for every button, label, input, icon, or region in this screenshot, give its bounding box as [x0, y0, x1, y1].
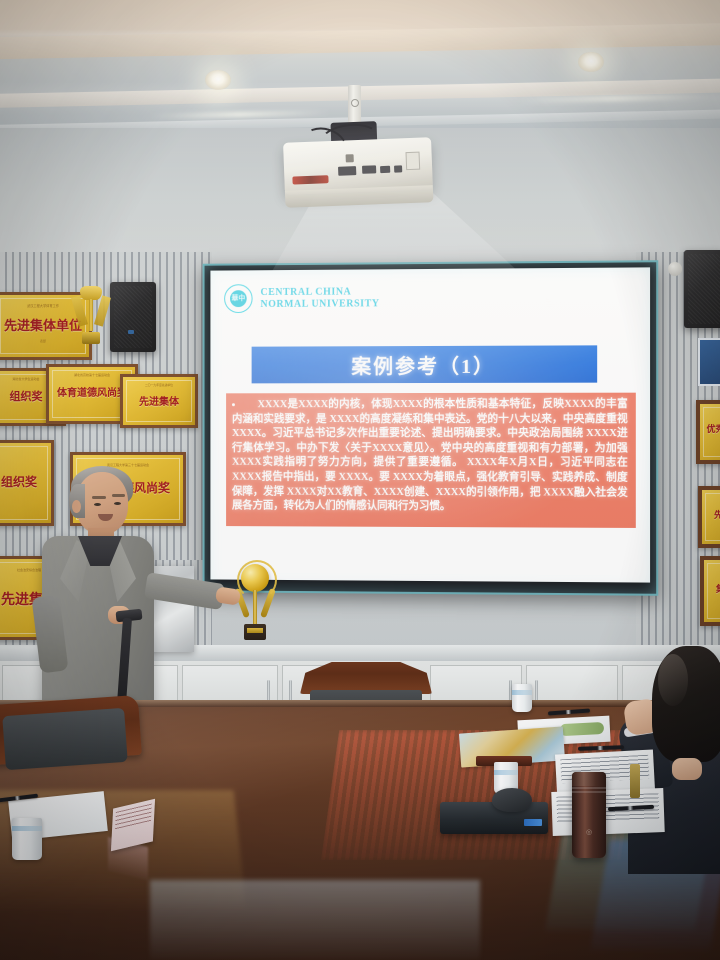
paper-cup-near[interactable] [12, 818, 42, 860]
clipboard-clip-icon [630, 764, 640, 798]
projector-panel [406, 152, 421, 171]
award-plaque: 优秀奖 [696, 400, 720, 464]
framed-certificate [698, 338, 720, 386]
logo-glyph: 華中 [231, 295, 245, 302]
ceiling-beam-upper [0, 23, 720, 60]
paper-cup-far[interactable] [512, 684, 532, 712]
name-card-text [115, 804, 152, 831]
chair-foreground-left[interactable] [0, 700, 140, 810]
slide-body-text: XXXX是XXXX的内核，体现XXXX的根本性质和基本特征，反映XXXX的丰富内… [232, 398, 628, 516]
slide-body-block: XXXX是XXXX的内核，体现XXXX的根本性质和基本特征，反映XXXX的丰富内… [226, 393, 636, 528]
speaker-led-icon [128, 330, 134, 334]
projection-screen: 華中 CENTRAL CHINA NORMAL UNIVERSITY 案例参考（… [203, 260, 659, 596]
attendee-writing-hand [672, 758, 702, 780]
award-plaque: 集体 [700, 556, 720, 626]
ceiling-sensor-icon [668, 262, 682, 276]
trophy-ledge-center [236, 562, 274, 644]
computer-mouse[interactable] [492, 788, 532, 812]
presenter-ear [72, 500, 81, 513]
trophy-shelf-upper [76, 286, 106, 350]
presenter-eye [94, 503, 101, 506]
wall-speaker-left [110, 282, 156, 352]
presentation-slide: 華中 CENTRAL CHINA NORMAL UNIVERSITY 案例参考（… [210, 267, 650, 582]
thermos-cap[interactable] [572, 772, 606, 786]
bullet-icon [232, 403, 235, 406]
wall-speaker-right [684, 250, 720, 328]
thermos-logo-icon: ◎ [572, 828, 606, 836]
downlight-left-icon [205, 70, 231, 90]
downlight-right-icon [578, 52, 604, 72]
thermos-flask[interactable]: ◎ [572, 772, 606, 858]
clipboard-document[interactable] [551, 788, 664, 836]
university-seal-icon: 華中 [224, 284, 252, 313]
award-plaque: 二〇一九年度先进单位 先进集体 [120, 374, 198, 428]
screen-surface: 華中 CENTRAL CHINA NORMAL UNIVERSITY 案例参考（… [210, 267, 650, 582]
presenter-eye [114, 502, 121, 505]
slide-title-bar: 案例参考（1） [252, 345, 598, 383]
award-plaque: 组织奖 [0, 440, 54, 526]
award-plaque: 先进 [698, 486, 720, 548]
slide-title: 案例参考（1） [351, 350, 495, 379]
laptop-sticker [524, 819, 542, 826]
meeting-room-photo: 武汉工程大学体育工作 先进集体单位 表彰 湖北省大学生运动会 组织奖 湖北省高校… [0, 0, 720, 960]
projector-brand-label [292, 175, 328, 184]
